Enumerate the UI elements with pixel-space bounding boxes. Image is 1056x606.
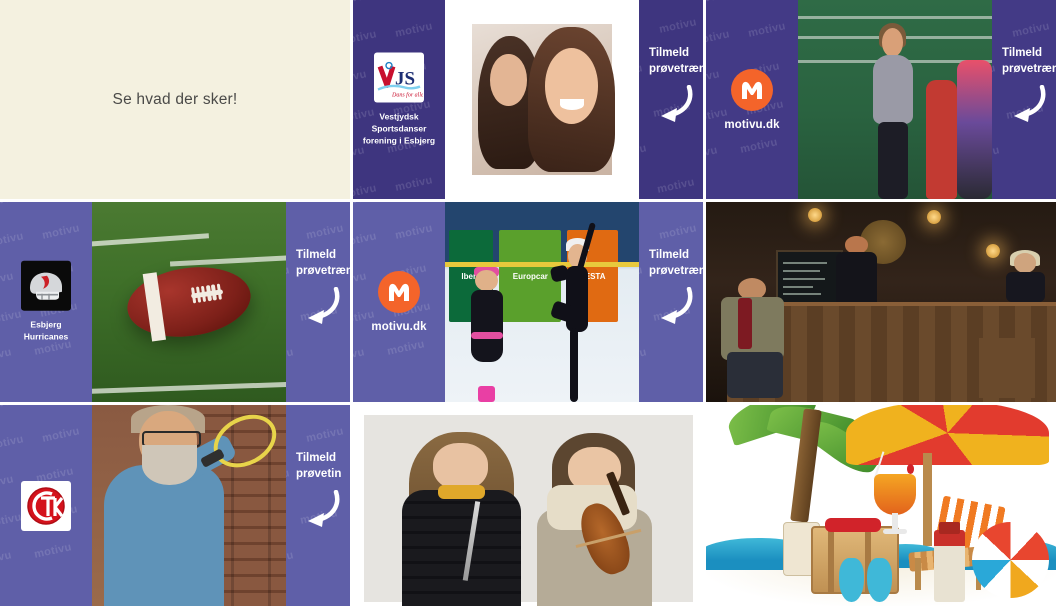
cta-block[interactable]: Tilmeld prøvetræn: [649, 248, 703, 332]
cell-vjs[interactable]: motivumotivu motivumotivu motivumotivu m…: [353, 0, 703, 199]
branded-card-hurricanes: motivumotivu motivumotivu motivumotivu m…: [0, 202, 350, 402]
cta-line-2: prøvetræn: [649, 264, 703, 280]
hero-panel: Se hvad der sker!: [0, 0, 350, 199]
full-image-beach: [706, 405, 1056, 606]
cell-hero[interactable]: Se hvad der sker!: [0, 0, 350, 199]
branded-card-vjs: motivumotivu motivumotivu motivumotivu m…: [353, 0, 703, 199]
cell-badminton[interactable]: motivumotivu motivumotivu motivumotivu m…: [706, 0, 1056, 199]
svg-text:Dans for alle: Dans for alle: [391, 91, 423, 98]
cta-line-2: prøvetræn: [1002, 62, 1056, 78]
brand-label: motivu.dk: [724, 119, 779, 131]
curved-arrow-down-left-icon: [655, 287, 703, 332]
brand-panel: motivumotivu motivumotivu motivumotivu m…: [353, 202, 445, 402]
vjs-logo: JS Dans for alle: [374, 52, 424, 102]
cell-hurricanes[interactable]: motivumotivu motivumotivu motivumotivu m…: [0, 202, 350, 402]
cta-line-2: prøvetræn: [296, 264, 350, 280]
cell-theatre[interactable]: [706, 202, 1056, 402]
etk-logo: [21, 481, 71, 531]
club-name: Vestjydsk Sportsdanser forening i Esbjer…: [356, 110, 442, 147]
brand-label: motivu.dk: [371, 321, 426, 333]
cta-block[interactable]: Tilmeld prøvetræn: [649, 46, 703, 130]
motivu-m-logo: [731, 69, 773, 111]
curved-arrow-down-left-icon: [302, 490, 344, 535]
card-photo: lberg Europcar VESTA: [445, 202, 639, 402]
card-photo: [92, 405, 286, 606]
brand-identity: motivu.dk: [706, 69, 798, 131]
full-image-theatre: [706, 202, 1056, 402]
cta-panel[interactable]: motivumotivu motivumotivu motivu Tilmeld…: [286, 202, 350, 402]
curved-arrow-down-left-icon: [302, 287, 350, 332]
cta-line-1: Tilmeld: [649, 46, 703, 62]
curved-arrow-down-left-icon: [1008, 85, 1056, 130]
cta-block[interactable]: Tilmeld prøvetin: [296, 451, 344, 535]
card-grid: Se hvad der sker! motivumotivu motivumot…: [0, 0, 1056, 606]
club-panel: motivumotivu motivumotivu motivumotivu m…: [353, 0, 445, 199]
full-image-musicians: [353, 405, 703, 606]
hero-title: Se hvad der sker!: [113, 91, 238, 109]
cta-block[interactable]: Tilmeld prøvetræn: [296, 248, 350, 332]
helmet-logo: [21, 261, 71, 311]
card-photo: [798, 0, 992, 199]
club-identity: JS Dans for alle Vestjydsk Sportsdanser …: [353, 52, 445, 147]
curved-arrow-down-left-icon: [655, 85, 703, 130]
card-photo: [92, 202, 286, 402]
cell-musicians[interactable]: [353, 405, 703, 606]
cell-skating[interactable]: motivumotivu motivumotivu motivumotivu m…: [353, 202, 703, 402]
cta-panel[interactable]: motivumotivu motivumotivu motivu Tilmeld…: [286, 405, 350, 606]
branded-card-skating: motivumotivu motivumotivu motivumotivu m…: [353, 202, 703, 402]
cta-panel[interactable]: motivumotivu motivumotivu motivumotivu T…: [639, 0, 703, 199]
brand-panel: motivumotivu motivumotivu motivumotivu m…: [706, 0, 798, 199]
cell-beach[interactable]: [706, 405, 1056, 606]
club-name: Esbjerg Hurricanes: [3, 319, 89, 344]
branded-card-badminton: motivumotivu motivumotivu motivumotivu m…: [706, 0, 1056, 199]
cta-block[interactable]: Tilmeld prøvetræn: [1002, 46, 1056, 130]
cell-etk[interactable]: motivumotivu motivumotivu motivumotivu m…: [0, 405, 350, 606]
cta-line-2: prøvetræn: [649, 62, 703, 78]
club-panel: motivumotivu motivumotivu motivumotivu m…: [0, 202, 92, 402]
cta-line-1: Tilmeld: [296, 451, 344, 467]
card-photo: [445, 0, 639, 199]
cta-panel[interactable]: motivumotivu motivumotivu motivu Tilmeld…: [639, 202, 703, 402]
brand-identity: motivu.dk: [353, 271, 445, 333]
cta-line-1: Tilmeld: [1002, 46, 1056, 62]
club-panel: motivumotivu motivumotivu motivumotivu m…: [0, 405, 92, 606]
cta-panel[interactable]: motivumotivu motivumotivu motivu Tilmeld…: [992, 0, 1056, 199]
motivu-m-logo: [378, 271, 420, 313]
cta-line-2: prøvetin: [296, 467, 344, 483]
cta-line-1: Tilmeld: [649, 248, 703, 264]
cta-line-1: Tilmeld: [296, 248, 350, 264]
club-identity: Esbjerg Hurricanes: [0, 261, 92, 344]
club-identity: [0, 481, 92, 531]
branded-card-etk: motivumotivu motivumotivu motivumotivu m…: [0, 405, 350, 606]
